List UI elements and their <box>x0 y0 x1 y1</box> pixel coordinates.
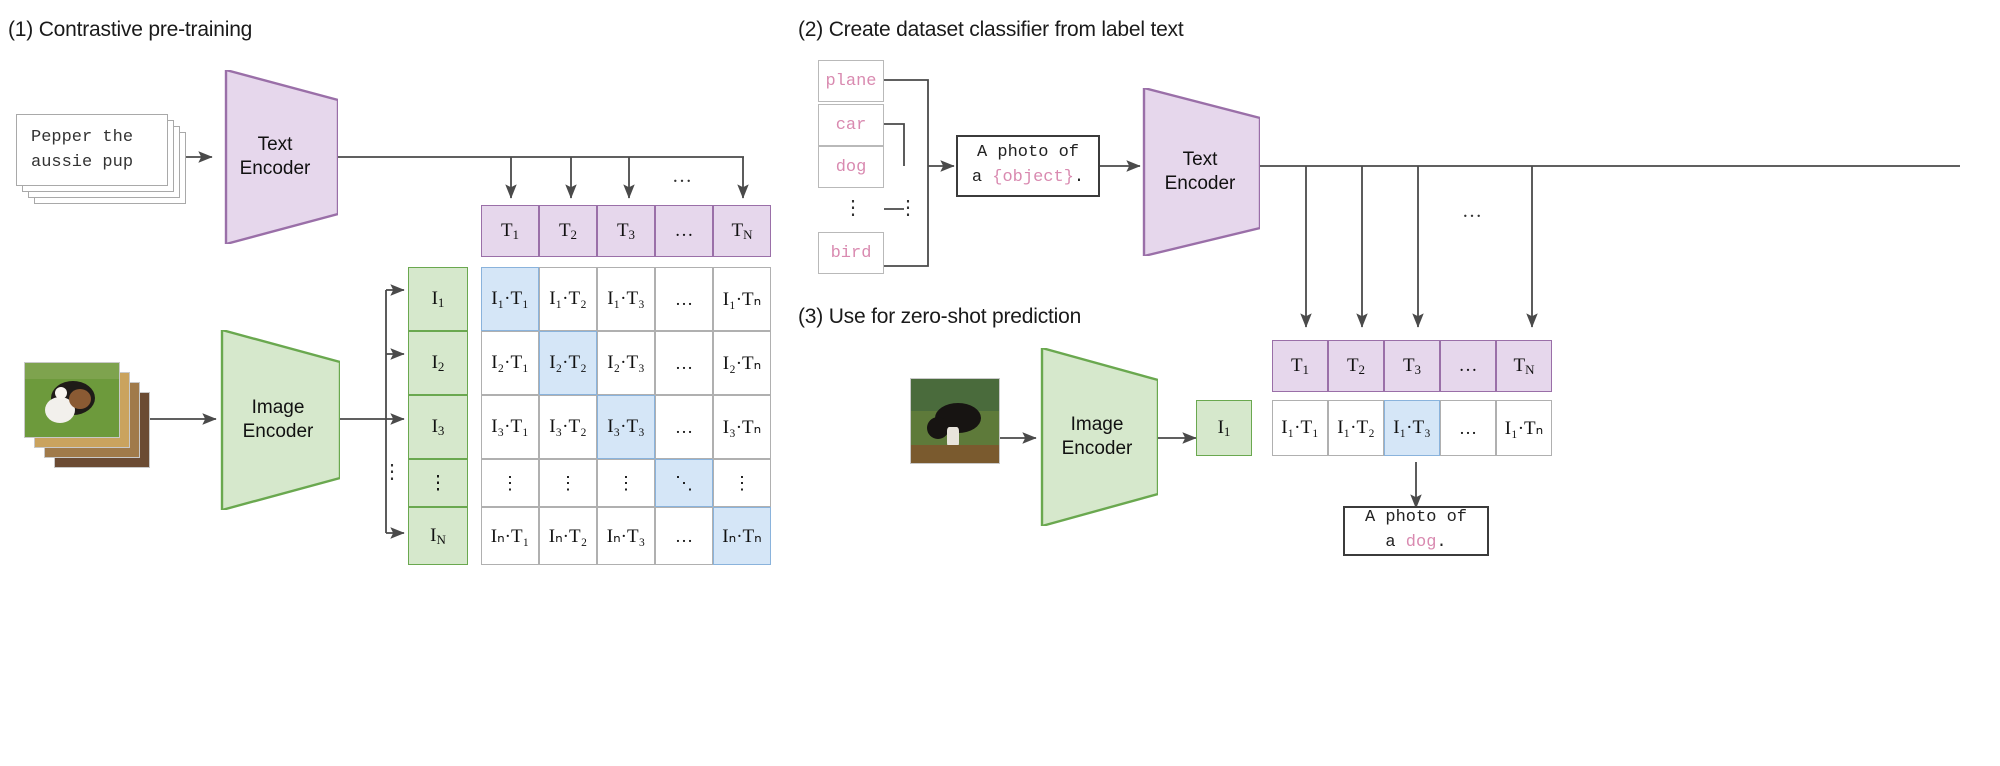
enc-label-line2: Encoder <box>240 157 311 181</box>
image-card-front-dog <box>24 362 120 438</box>
class-label-box-dog: dog <box>818 146 884 188</box>
matrix-cell-r1-c5: I₁·Tₙ <box>713 267 771 331</box>
matrix-cell-r4-c2: ⋮ <box>539 459 597 507</box>
prompt-template-box: A photo of a {object}. <box>956 135 1100 197</box>
class-label-box-plane: plane <box>818 60 884 102</box>
panel3-score-cell-3: I₁·T₃ <box>1384 400 1440 456</box>
class-label-box-car: car <box>818 104 884 146</box>
matrix-cell-r1-c1: I₁·T₁ <box>481 267 539 331</box>
matrix-cell-r2-c3: I₂·T₃ <box>597 331 655 395</box>
result-prefix: a <box>1385 533 1405 552</box>
text-bus-ellipsis: … <box>672 165 692 188</box>
prompt-line-2: a {object}. <box>972 166 1084 191</box>
text-embedding-cell-2: T2 <box>539 205 597 257</box>
section-3-title: (3) Use for zero-shot prediction <box>798 305 1081 329</box>
label-bracket-ellipsis: ⋮ <box>898 198 918 218</box>
panel3-text-embedding-cell-2: T2 <box>1328 340 1384 392</box>
section-2-title: (2) Create dataset classifier from label… <box>798 18 1184 42</box>
panel3-score-cell-1: I₁·T₁ <box>1272 400 1328 456</box>
panel3-text-embedding-cell-5: TN <box>1496 340 1552 392</box>
matrix-cell-r2-c4: … <box>655 331 713 395</box>
prompt-suffix: . <box>1074 168 1084 187</box>
prompt-object-token: {object} <box>992 168 1074 187</box>
image-embedding-cell-3: I3 <box>408 395 468 459</box>
image-encoder-1-label: Image Encoder <box>243 396 314 444</box>
text-embedding-cell-1: T1 <box>481 205 539 257</box>
enc-label-line1: Image <box>1062 413 1133 437</box>
result-object-token: dog <box>1406 533 1437 552</box>
text-embedding-cell-4: … <box>655 205 713 257</box>
panel3-score-cell-2: I₁·T₂ <box>1328 400 1384 456</box>
clip-architecture-figure: (1) Contrastive pre-training (2) Create … <box>0 0 2000 766</box>
caption-card-front: Pepper the aussie pup <box>16 114 168 186</box>
matrix-cell-r4-c1: ⋮ <box>481 459 539 507</box>
result-line-1: A photo of <box>1365 506 1467 531</box>
matrix-cell-r5-c1: Iₙ·T₁ <box>481 507 539 565</box>
prompt-line-1: A photo of <box>977 141 1079 166</box>
query-image-dog <box>910 378 1000 464</box>
prompt-prefix: a <box>972 168 992 187</box>
panel3-text-embedding-cell-4: … <box>1440 340 1496 392</box>
panel3-text-bus-ellipsis: … <box>1462 200 1482 223</box>
image-embedding-cell-4: ⋮ <box>408 459 468 507</box>
matrix-cell-r1-c4: … <box>655 267 713 331</box>
enc-label-line1: Text <box>1165 148 1236 172</box>
enc-label-line1: Image <box>243 396 314 420</box>
panel3-score-cell-4: … <box>1440 400 1496 456</box>
matrix-cell-r3-c1: I₃·T₁ <box>481 395 539 459</box>
matrix-cell-r4-c5: ⋮ <box>713 459 771 507</box>
text-embedding-cell-5: TN <box>713 205 771 257</box>
text-encoder-1-label: Text Encoder <box>240 133 311 181</box>
panel3-text-embedding-cell-3: T3 <box>1384 340 1440 392</box>
panel3-text-embedding-cell-1: T1 <box>1272 340 1328 392</box>
matrix-cell-r3-c3: I₃·T₃ <box>597 395 655 459</box>
matrix-cell-r2-c5: I₂·Tₙ <box>713 331 771 395</box>
matrix-cell-r5-c5: Iₙ·Tₙ <box>713 507 771 565</box>
label-list-ellipsis: ⋮ <box>843 198 863 218</box>
enc-label-line2: Encoder <box>1062 437 1133 461</box>
matrix-cell-r4-c3: ⋮ <box>597 459 655 507</box>
image-encoder-1[interactable]: Image Encoder <box>216 330 340 510</box>
matrix-cell-r3-c5: I₃·Tₙ <box>713 395 771 459</box>
class-label-box-bird: bird <box>818 232 884 274</box>
matrix-cell-r5-c3: Iₙ·T₃ <box>597 507 655 565</box>
matrix-cell-r5-c4: … <box>655 507 713 565</box>
matrix-cell-r2-c1: I₂·T₁ <box>481 331 539 395</box>
panel3-score-cell-5: I₁·Tₙ <box>1496 400 1552 456</box>
image-embedding-cell-5: IN <box>408 507 468 565</box>
image-encoder-2-label: Image Encoder <box>1062 413 1133 461</box>
matrix-cell-r3-c2: I₃·T₂ <box>539 395 597 459</box>
image-bus-ellipsis: ⋮ <box>382 462 402 482</box>
result-suffix: . <box>1436 533 1446 552</box>
text-embedding-cell-3: T3 <box>597 205 655 257</box>
section-1-title: (1) Contrastive pre-training <box>8 18 252 42</box>
matrix-cell-r4-c4: ⋱ <box>655 459 713 507</box>
image-embedding-cell-2: I2 <box>408 331 468 395</box>
matrix-cell-r3-c4: … <box>655 395 713 459</box>
caption-line-2: aussie pup <box>31 150 133 176</box>
zero-shot-result-box: A photo of a dog. <box>1343 506 1489 556</box>
enc-label-line1: Text <box>240 133 311 157</box>
matrix-cell-r2-c2: I₂·T₂ <box>539 331 597 395</box>
panel3-image-embedding-cell: I1 <box>1196 400 1252 456</box>
text-encoder-2-label: Text Encoder <box>1165 148 1236 196</box>
text-encoder-1[interactable]: Text Encoder <box>212 70 338 244</box>
caption-line-1: Pepper the <box>31 125 133 151</box>
text-encoder-2[interactable]: Text Encoder <box>1140 88 1260 256</box>
matrix-cell-r1-c2: I₁·T₂ <box>539 267 597 331</box>
image-embedding-cell-1: I1 <box>408 267 468 331</box>
enc-label-line2: Encoder <box>1165 172 1236 196</box>
matrix-cell-r1-c3: I₁·T₃ <box>597 267 655 331</box>
enc-label-line2: Encoder <box>243 420 314 444</box>
image-encoder-2[interactable]: Image Encoder <box>1036 348 1158 526</box>
matrix-cell-r5-c2: Iₙ·T₂ <box>539 507 597 565</box>
result-line-2: a dog. <box>1385 531 1446 556</box>
